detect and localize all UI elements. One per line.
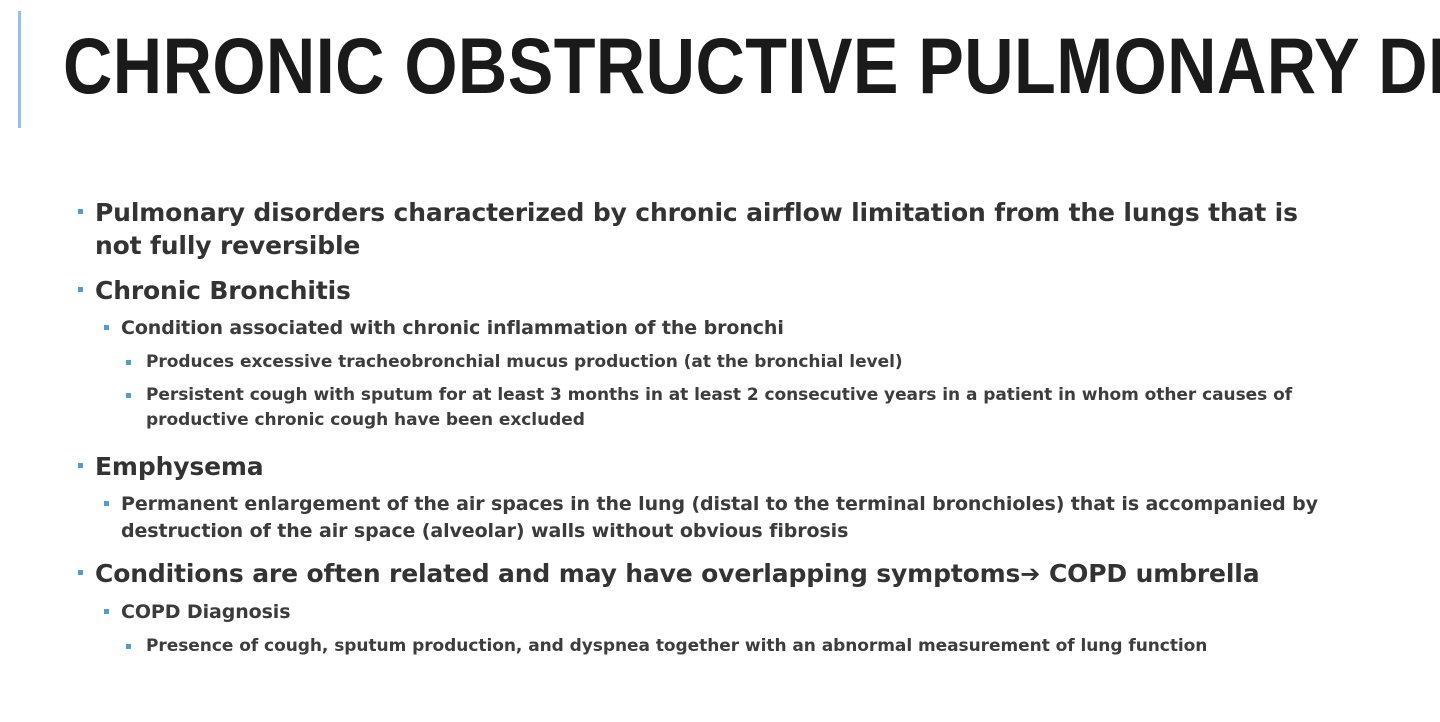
bullet-marker-icon — [78, 463, 83, 468]
bullet-marker-icon — [104, 501, 109, 506]
bullet-text: Permanent enlargement of the air spaces … — [121, 491, 1350, 545]
slide-title: CHRONIC OBSTRUCTIVE PULMONARY DISEASE — [63, 16, 1222, 116]
bullet-marker-icon — [126, 360, 131, 365]
title-accent-bar — [18, 11, 21, 128]
bullet-item-level1: Pulmonary disorders characterized by chr… — [0, 196, 1440, 262]
bullet-marker-icon — [126, 393, 131, 398]
bullet-text: Presence of cough, sputum production, an… — [146, 634, 1370, 659]
bullet-item-level2: COPD Diagnosis — [0, 599, 1440, 626]
bullet-item-level3: Presence of cough, sputum production, an… — [0, 634, 1440, 659]
bullet-item-level1: Chronic Bronchitis — [0, 274, 1440, 307]
bullet-marker-icon — [104, 325, 109, 330]
slide-canvas: CHRONIC OBSTRUCTIVE PULMONARY DISEASE Pu… — [0, 0, 1440, 722]
bullet-item-level2: Condition associated with chronic inflam… — [0, 315, 1440, 342]
bullet-text: COPD Diagnosis — [121, 599, 1350, 626]
slide-title-block: CHRONIC OBSTRUCTIVE PULMONARY DISEASE — [0, 0, 1440, 150]
bullet-marker-icon — [78, 287, 83, 292]
bullet-item-level2: Permanent enlargement of the air spaces … — [0, 491, 1440, 545]
slide-body: Pulmonary disorders characterized by chr… — [0, 196, 1440, 664]
bullet-text: Condition associated with chronic inflam… — [121, 315, 1350, 342]
bullet-text: Persistent cough with sputum for at leas… — [146, 383, 1370, 433]
right-arrow-icon: ➔ — [1020, 560, 1040, 588]
bullet-text: Pulmonary disorders characterized by chr… — [95, 196, 1320, 262]
bullet-item-level1-with-arrow: Conditions are often related and may hav… — [0, 557, 1440, 591]
bullet-marker-icon — [126, 644, 131, 649]
bullet-text-after-arrow: COPD umbrella — [1040, 559, 1259, 588]
bullet-item-level3: Persistent cough with sputum for at leas… — [0, 383, 1440, 433]
bullet-marker-icon — [78, 209, 83, 214]
bullet-item-level1: Emphysema — [0, 450, 1440, 483]
bullet-text: Produces excessive tracheobronchial mucu… — [146, 350, 1370, 375]
bullet-text: Emphysema — [95, 450, 1320, 483]
bullet-text-composite: Conditions are often related and may hav… — [95, 557, 1320, 591]
bullet-marker-icon — [104, 609, 109, 614]
bullet-text-before-arrow: Conditions are often related and may hav… — [95, 559, 1020, 588]
bullet-marker-icon — [78, 570, 83, 575]
bullet-item-level3: Produces excessive tracheobronchial mucu… — [0, 350, 1440, 375]
bullet-text: Chronic Bronchitis — [95, 274, 1320, 307]
